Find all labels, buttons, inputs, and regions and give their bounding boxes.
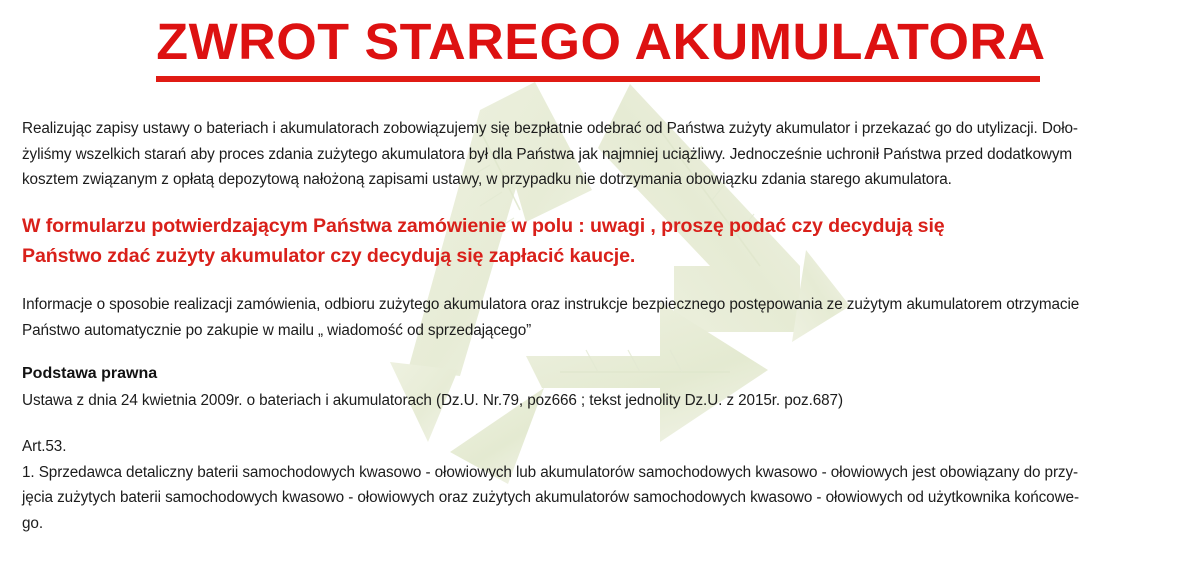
- info-paragraph: Informacje o sposobie realizacji zamówie…: [22, 292, 1079, 343]
- document-body: ZWROT STAREGO AKUMULATORA Realizując zap…: [0, 0, 1201, 560]
- page-title-text: ZWROT STAREGO AKUMULATORA: [156, 14, 1045, 70]
- notice-line-1: W formularzu potwierdzającym Państwa zam…: [22, 211, 945, 241]
- page-title: ZWROT STAREGO AKUMULATORA: [0, 14, 1201, 70]
- article-paragraph: Art.53. 1. Sprzedawca detaliczny baterii…: [22, 434, 1079, 536]
- legal-basis-heading: Podstawa prawna: [22, 363, 157, 385]
- info-line-2: Państwo automatycznie po zakupie w mailu…: [22, 318, 1079, 344]
- article-line-3: jęcia zużytych baterii samochodowych kwa…: [22, 485, 1079, 511]
- notice-line-2: Państwo zdać zużyty akumulator czy decyd…: [22, 241, 945, 271]
- intro-line-3: kosztem związanym z opłatą depozytową na…: [22, 167, 1078, 193]
- title-underline-rule: [156, 76, 1040, 82]
- legal-basis-line-1: Ustawa z dnia 24 kwietnia 2009r. o bater…: [22, 388, 843, 414]
- article-line-1: Art.53.: [22, 434, 1079, 460]
- intro-paragraph: Realizując zapisy ustawy o bateriach i a…: [22, 116, 1078, 193]
- legal-basis-paragraph: Ustawa z dnia 24 kwietnia 2009r. o bater…: [22, 388, 843, 414]
- info-line-1: Informacje o sposobie realizacji zamówie…: [22, 292, 1079, 318]
- article-line-4: go.: [22, 511, 1079, 537]
- intro-line-1: Realizując zapisy ustawy o bateriach i a…: [22, 116, 1078, 142]
- intro-line-2: żyliśmy wszelkich starań aby proces zdan…: [22, 142, 1078, 168]
- article-line-2: 1. Sprzedawca detaliczny baterii samocho…: [22, 460, 1079, 486]
- notice-paragraph: W formularzu potwierdzającym Państwa zam…: [22, 211, 945, 271]
